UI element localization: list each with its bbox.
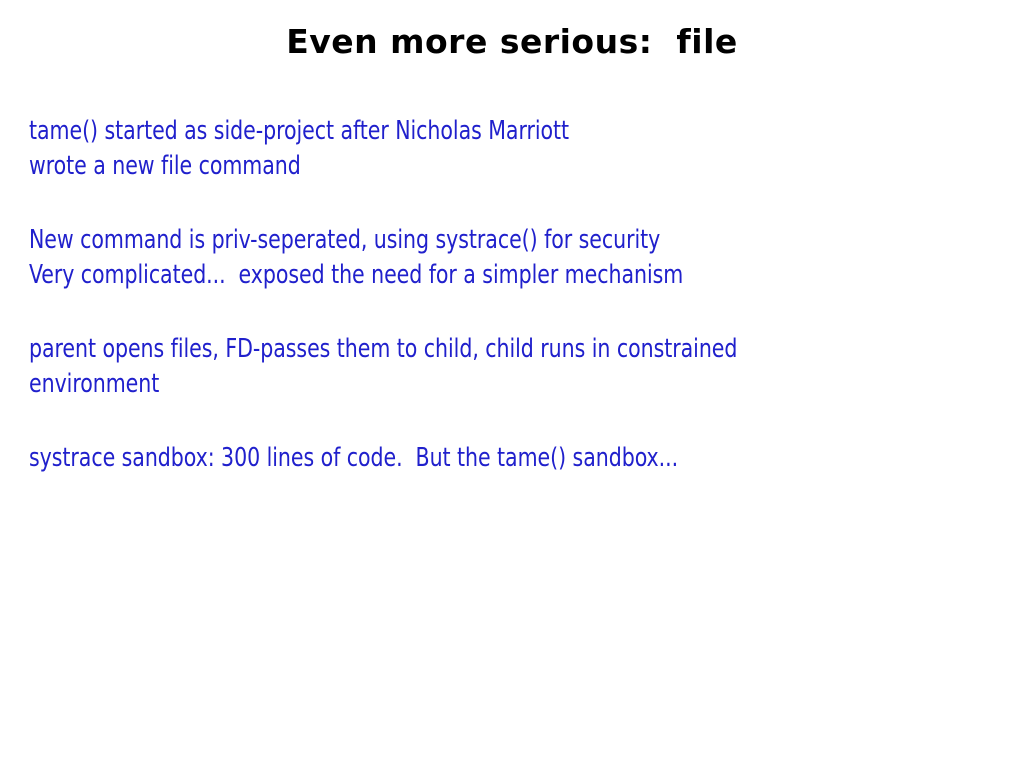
body-paragraph-tame-origin: tame() started as side-project after Nic… xyxy=(29,114,893,184)
body-paragraph-sandbox-size: systrace sandbox: 300 lines of code. But… xyxy=(29,441,893,476)
body-paragraph-fd-passing: parent opens files, FD-passes them to ch… xyxy=(29,332,893,402)
slide-body: tame() started as side-project after Nic… xyxy=(29,114,994,476)
body-paragraph-new-command: New command is priv-seperated, using sys… xyxy=(29,223,893,293)
slide-canvas: Even more serious: file tame() started a… xyxy=(0,0,1024,768)
slide-title: Even more serious: file xyxy=(0,22,1024,62)
